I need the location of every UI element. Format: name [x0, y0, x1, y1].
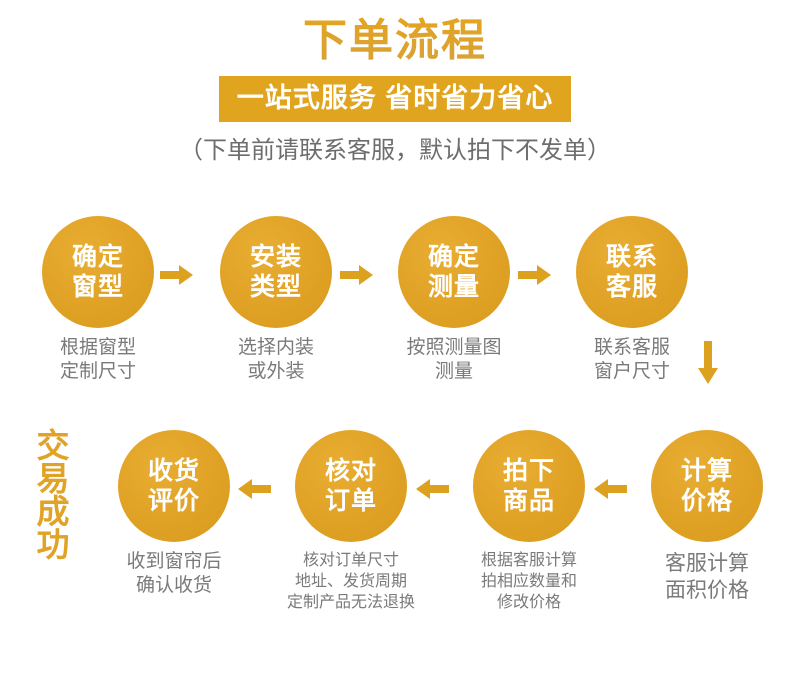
- flow-circle-2[interactable]: 安装 类型: [220, 216, 332, 328]
- arrow-left-icon-3: [593, 478, 627, 500]
- subtitle-banner: 一站式服务 省时省力省心: [219, 76, 572, 122]
- flow-node-1[interactable]: 确定 窗型 根据窗型 定制尺寸: [22, 216, 174, 384]
- flow-circle-label-1: 确定 窗型: [72, 242, 124, 302]
- flow-caption-2: 选择内装 或外装: [200, 336, 352, 384]
- flow-circle-6[interactable]: 核对 订单: [295, 430, 407, 542]
- flow-node-8[interactable]: 计算 价格 客服计算 面积价格: [631, 430, 783, 604]
- order-note: （下单前请联系客服，默认拍下不发单）: [0, 136, 790, 166]
- flow-node-3[interactable]: 确定 测量 按照测量图 测量: [378, 216, 530, 384]
- arrow-down-icon: [697, 341, 719, 385]
- subtitle-banner-wrap: 一站式服务 省时省力省心: [0, 76, 790, 122]
- arrow-right-icon-1: [160, 264, 194, 286]
- flow-node-4[interactable]: 联系 客服 联系客服 窗户尺寸: [556, 216, 708, 384]
- flow-circle-label-8: 计算 价格: [681, 456, 733, 516]
- flow-circle-label-7: 拍下 商品: [503, 456, 555, 516]
- arrow-left-icon-2: [415, 478, 449, 500]
- flow-circle-1[interactable]: 确定 窗型: [42, 216, 154, 328]
- flow-caption-3: 按照测量图 测量: [378, 336, 530, 384]
- flow-caption-8: 客服计算 面积价格: [631, 550, 783, 604]
- arrow-right-icon-3: [518, 264, 552, 286]
- flow-circle-label-6: 核对 订单: [325, 456, 377, 516]
- flow-circle-label-2: 安装 类型: [250, 242, 302, 302]
- arrow-right-icon-2: [340, 264, 374, 286]
- flow-circle-label-4: 联系 客服: [606, 242, 658, 302]
- flow-caption-5: 收到窗帘后 确认收货: [98, 550, 250, 598]
- flow-circle-7[interactable]: 拍下 商品: [473, 430, 585, 542]
- flow-circle-4[interactable]: 联系 客服: [576, 216, 688, 328]
- flow-circle-8[interactable]: 计算 价格: [651, 430, 763, 542]
- flow-circle-label-3: 确定 测量: [428, 242, 480, 302]
- flow-circle-3[interactable]: 确定 测量: [398, 216, 510, 328]
- flow-caption-4: 联系客服 窗户尺寸: [556, 336, 708, 384]
- flow-circle-5[interactable]: 收货 评价: [118, 430, 230, 542]
- flow-node-7[interactable]: 拍下 商品 根据客服计算 拍相应数量和 修改价格: [453, 430, 605, 613]
- flow-node-6[interactable]: 核对 订单 核对订单尺寸 地址、发货周期 定制产品无法退换: [275, 430, 427, 613]
- page-title: 下单流程: [0, 0, 790, 68]
- flow-node-2[interactable]: 安装 类型 选择内装 或外装: [200, 216, 352, 384]
- flow-caption-6: 核对订单尺寸 地址、发货周期 定制产品无法退换: [275, 550, 427, 613]
- flow-caption-7: 根据客服计算 拍相应数量和 修改价格: [453, 550, 605, 613]
- flow-caption-1: 根据窗型 定制尺寸: [22, 336, 174, 384]
- header: 下单流程 一站式服务 省时省力省心 （下单前请联系客服，默认拍下不发单）: [0, 0, 790, 166]
- flow-node-5[interactable]: 收货 评价 收到窗帘后 确认收货: [98, 430, 250, 598]
- transaction-success-label: 交易成功: [22, 428, 68, 560]
- flow-circle-label-5: 收货 评价: [148, 456, 200, 516]
- arrow-left-icon-1: [237, 478, 271, 500]
